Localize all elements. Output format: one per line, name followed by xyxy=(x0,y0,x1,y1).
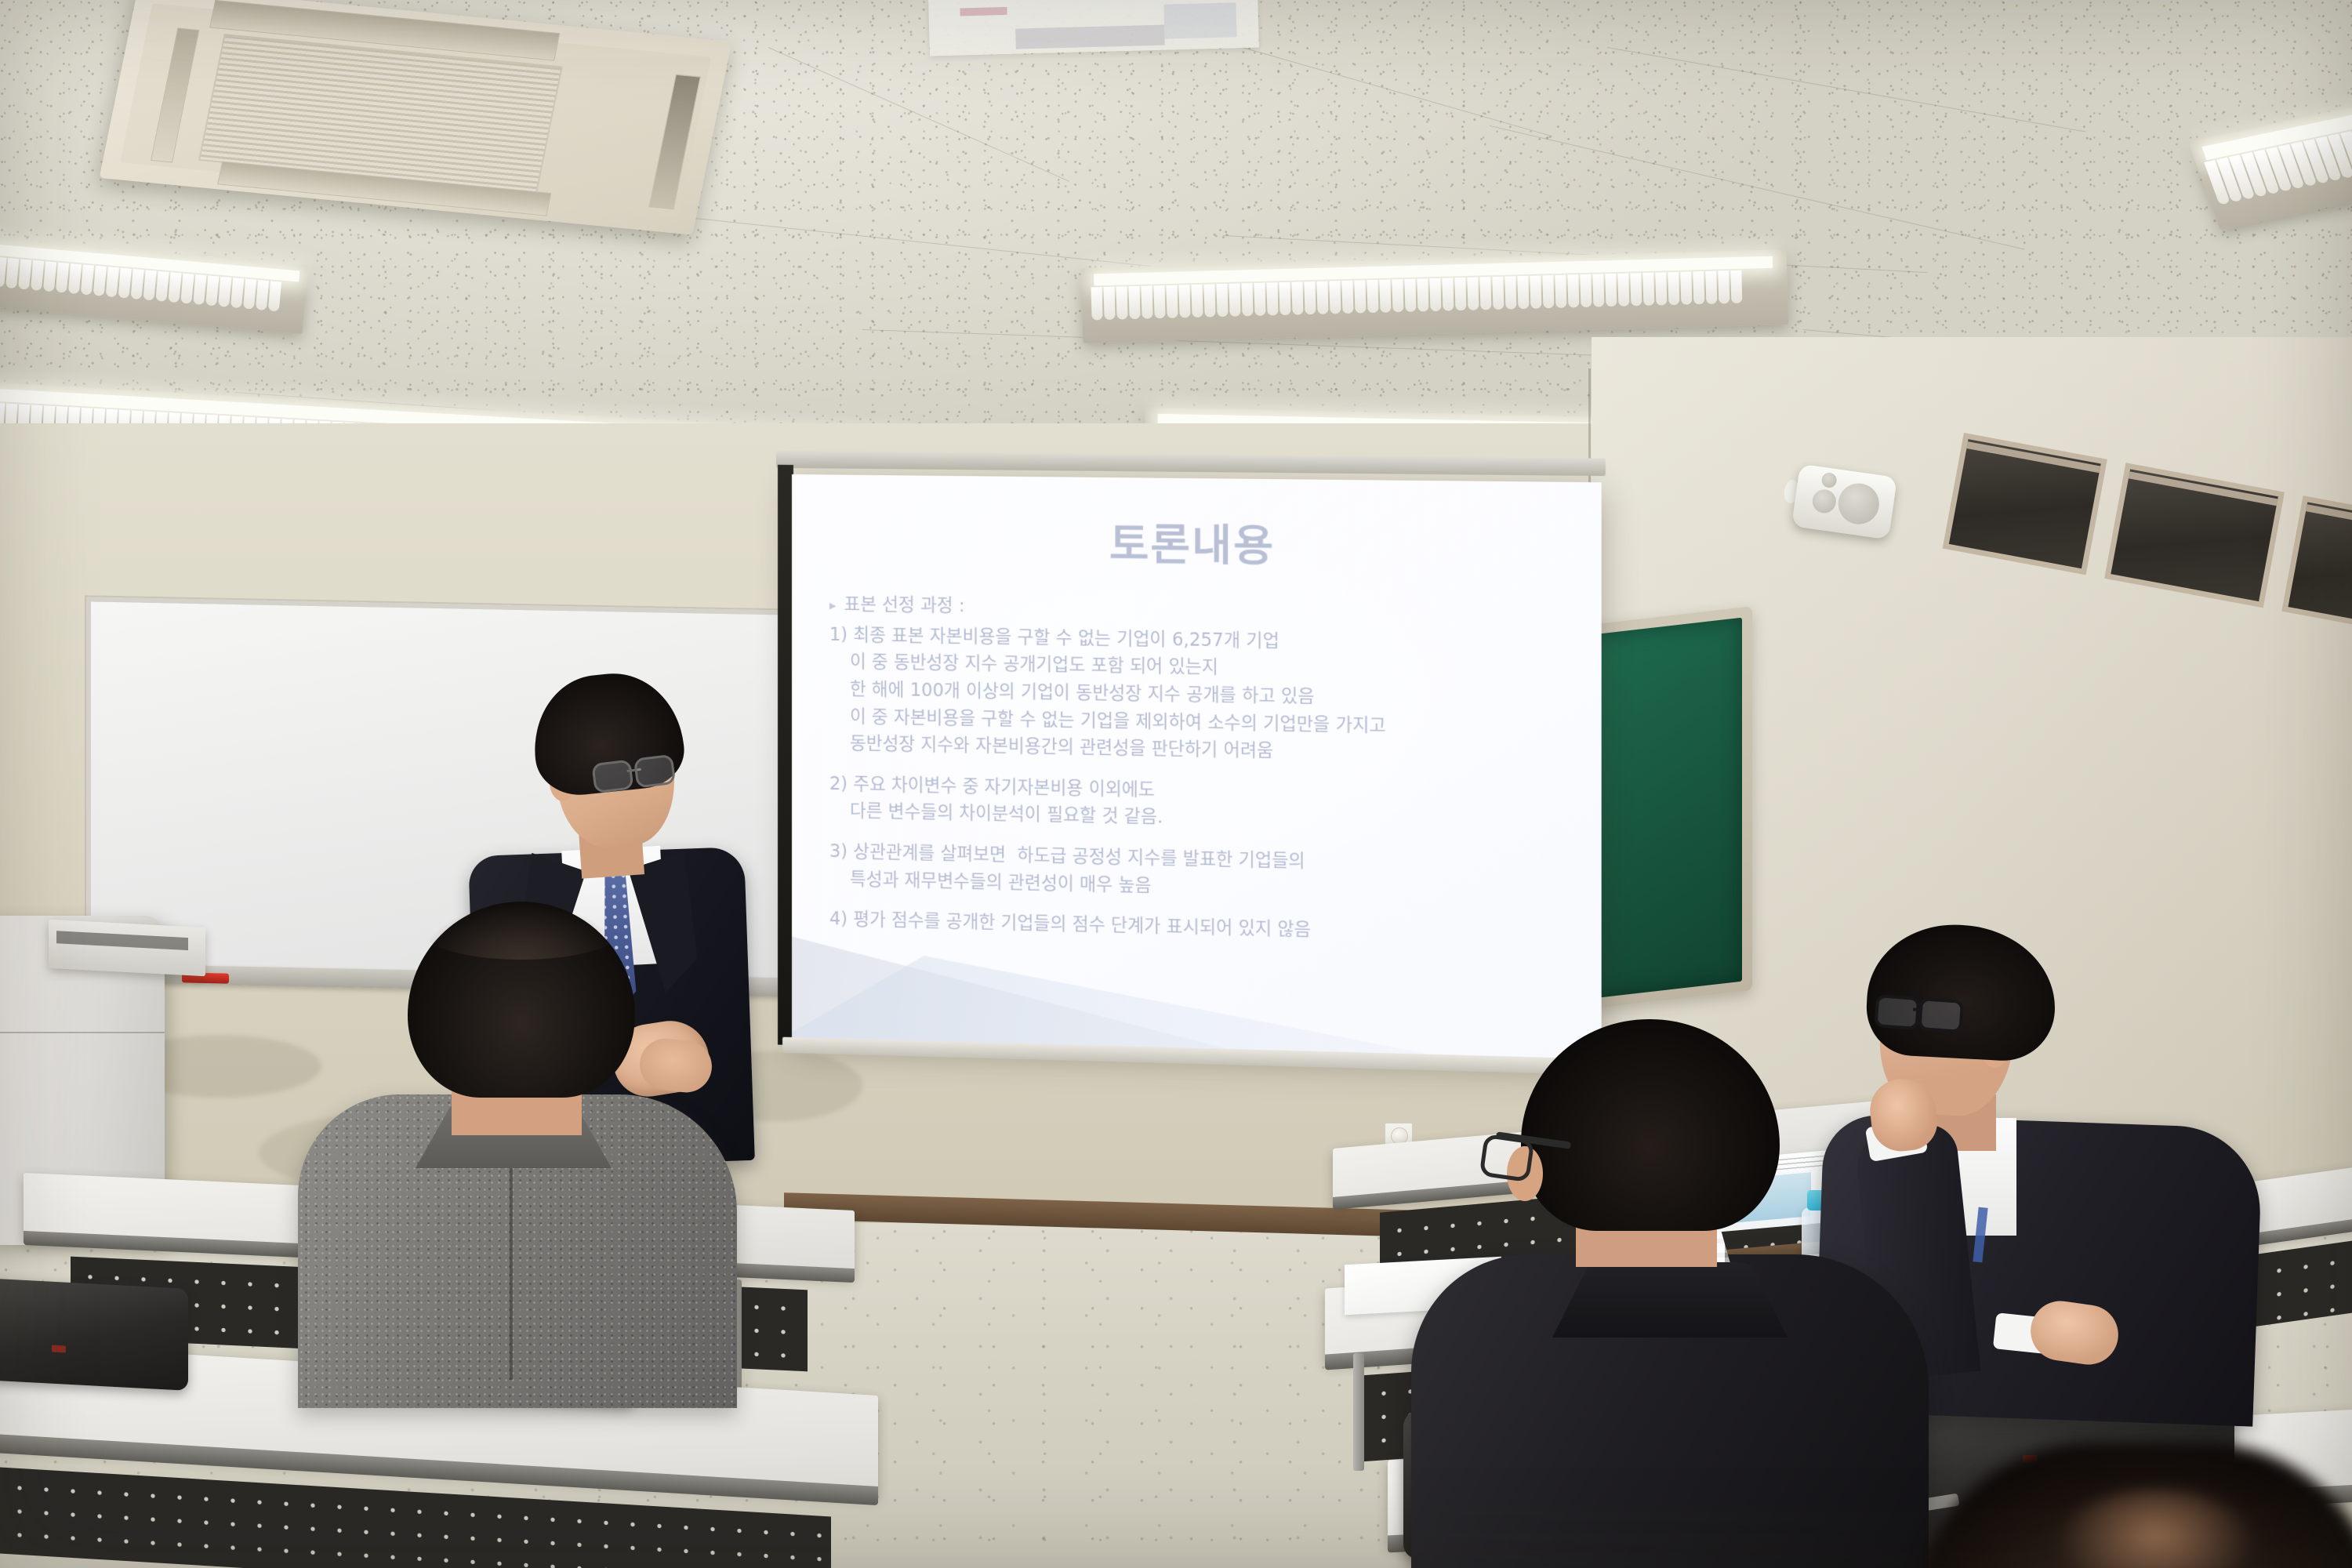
attendee-dark-jacket xyxy=(1435,1019,1921,1568)
projection-screen: 토론내용 ▸표본 선정 과정 : 1) 최종 표본 자본비용을 구할 수 없는 … xyxy=(792,474,1602,1061)
slide-title: 토론내용 xyxy=(792,506,1602,578)
slide-item: 3) 상관관계를 살펴보면 하도급 공정성 지수를 발표한 기업들의 특성과 재… xyxy=(829,838,1569,909)
slide-item: 1) 최종 표본 자본비용을 구할 수 없는 기업이 6,257개 기업 이 중… xyxy=(829,621,1569,771)
screen-side-border xyxy=(778,465,793,1045)
foreground-head xyxy=(1913,1443,2352,1568)
attendee-hair xyxy=(423,905,619,960)
attendee-hair xyxy=(1521,1019,1780,1231)
seminar-room-photo: 토론내용 ▸표본 선정 과정 : 1) 최종 표본 자본비용을 구할 수 없는 … xyxy=(0,0,2352,1568)
chair xyxy=(0,1283,188,1400)
slide-body: ▸표본 선정 과정 : 1) 최종 표본 자본비용을 구할 수 없는 기업이 6… xyxy=(829,591,1569,951)
bullet-triangle-icon: ▸ xyxy=(829,596,837,616)
window-pane xyxy=(2281,495,2352,637)
jacket-seam xyxy=(510,1145,513,1380)
slide-item: 2) 주요 차이변수 중 자기자본비용 이외에도 다른 변수들의 차이분석이 필… xyxy=(829,771,1569,840)
attendee-grey-jacket xyxy=(298,909,737,1396)
presentation-slide: 토론내용 ▸표본 선정 과정 : 1) 최종 표본 자본비용을 구할 수 없는 … xyxy=(792,474,1602,1061)
lectern-shelf xyxy=(49,920,205,976)
attendee-collar xyxy=(1552,1262,1788,1338)
wall-speaker-icon xyxy=(1791,464,1897,540)
ceiling-poster xyxy=(928,0,1259,56)
window-pane xyxy=(1943,433,2107,575)
